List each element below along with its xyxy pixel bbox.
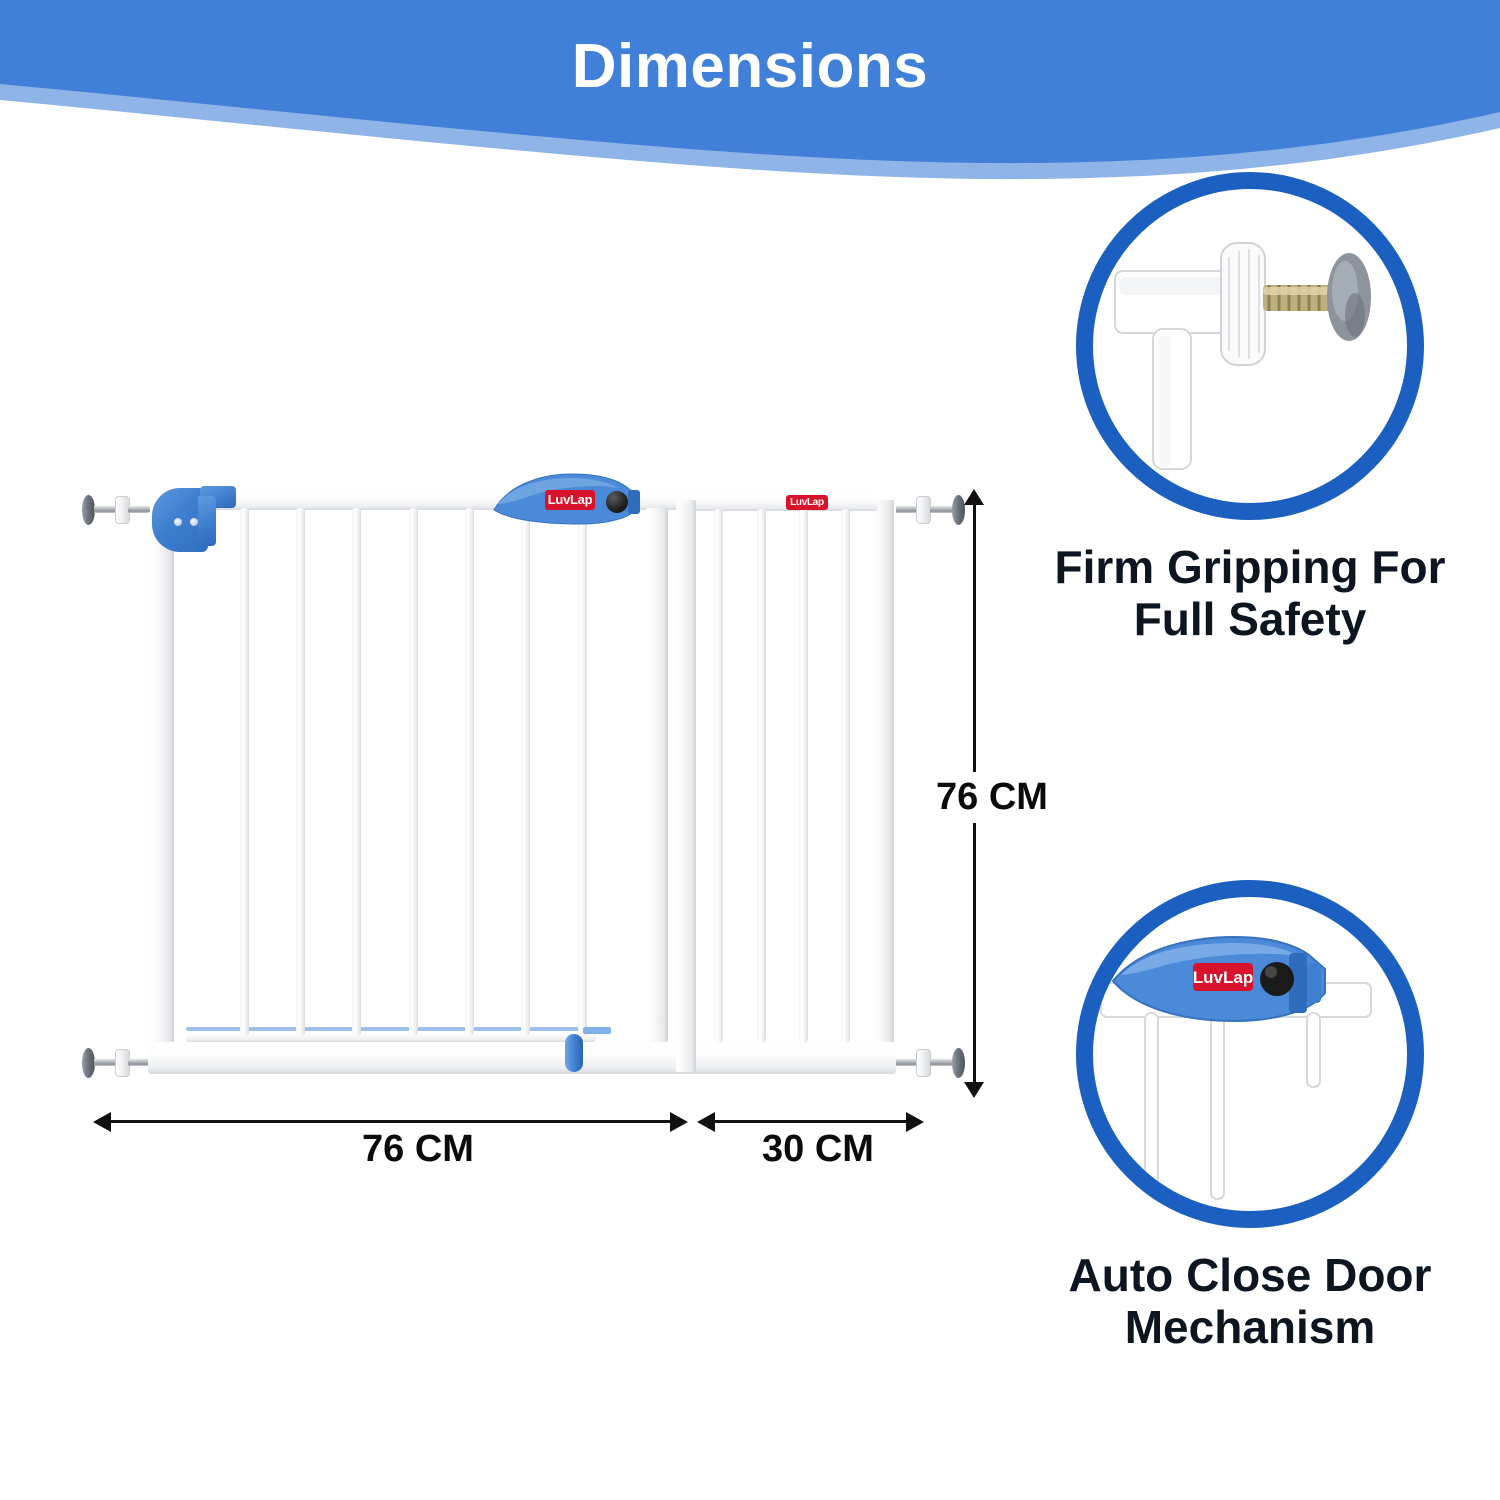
gate-bar xyxy=(521,508,530,1036)
extension-left-stile xyxy=(676,500,696,1072)
feature-caption-line: Full Safety xyxy=(1020,594,1480,646)
product-illustration: LuvLap LuvLap 76 CM 76 CM 30 CM xyxy=(0,0,1010,1220)
gate-bar xyxy=(296,508,305,1036)
main-width-arrow-right-icon xyxy=(670,1112,688,1132)
height-dimension-label: 76 CM xyxy=(930,772,1054,823)
feature-auto-close-caption: Auto Close Door Mechanism xyxy=(1020,1250,1480,1353)
extension-bar xyxy=(841,509,850,1043)
gate-bar xyxy=(352,508,361,1036)
gate-bar xyxy=(578,508,587,1036)
extension-width-arrow-left-icon xyxy=(697,1112,715,1132)
bottom-latch-bracket xyxy=(583,1027,611,1034)
height-arrow-top-icon xyxy=(964,489,984,505)
gate-left-post xyxy=(148,512,174,1072)
feature-caption-line: Mechanism xyxy=(1020,1302,1480,1354)
extension-width-dimension-line xyxy=(712,1120,912,1123)
gate-bar xyxy=(465,508,474,1036)
gate-right-post xyxy=(872,500,894,1072)
bottom-latch-pin xyxy=(565,1034,583,1072)
feature-auto-close: LuvLap Auto Close Door Mechanism xyxy=(1020,880,1480,1353)
extension-width-arrow-right-icon xyxy=(906,1112,924,1132)
brand-logo-handle: LuvLap xyxy=(545,490,595,510)
extension-bar xyxy=(714,509,723,1043)
handle-press-button[interactable] xyxy=(606,491,628,513)
feature-caption-line: Firm Gripping For xyxy=(1020,542,1480,594)
main-width-dimension-label: 76 CM xyxy=(362,1128,474,1171)
feature-caption-line: Auto Close Door xyxy=(1020,1250,1480,1302)
feature-firm-gripping-caption: Firm Gripping For Full Safety xyxy=(1020,542,1480,645)
main-width-arrow-left-icon xyxy=(93,1112,111,1132)
feature-auto-close-circle: LuvLap xyxy=(1076,880,1424,1228)
feature-firm-gripping-circle xyxy=(1076,172,1424,520)
main-width-dimension-line xyxy=(108,1120,678,1123)
brand-logo-extension: LuvLap xyxy=(786,495,828,510)
blue-latch-handle-icon: LuvLap xyxy=(1093,897,1407,1211)
extension-bar xyxy=(799,509,808,1043)
extension-width-dimension-label: 30 CM xyxy=(762,1128,874,1171)
height-arrow-bottom-icon xyxy=(964,1082,984,1098)
gate-bar xyxy=(240,508,249,1036)
hinge-side-tab xyxy=(198,496,216,546)
gate-bar xyxy=(409,508,418,1036)
door-latch-stile xyxy=(646,508,668,1042)
threaded-screw-mount-icon xyxy=(1093,189,1407,503)
extension-bar xyxy=(757,509,766,1043)
gate-bottom-rail xyxy=(148,1042,896,1074)
feature-firm-gripping: Firm Gripping For Full Safety xyxy=(1020,172,1480,645)
svg-text:LuvLap: LuvLap xyxy=(1193,968,1253,987)
